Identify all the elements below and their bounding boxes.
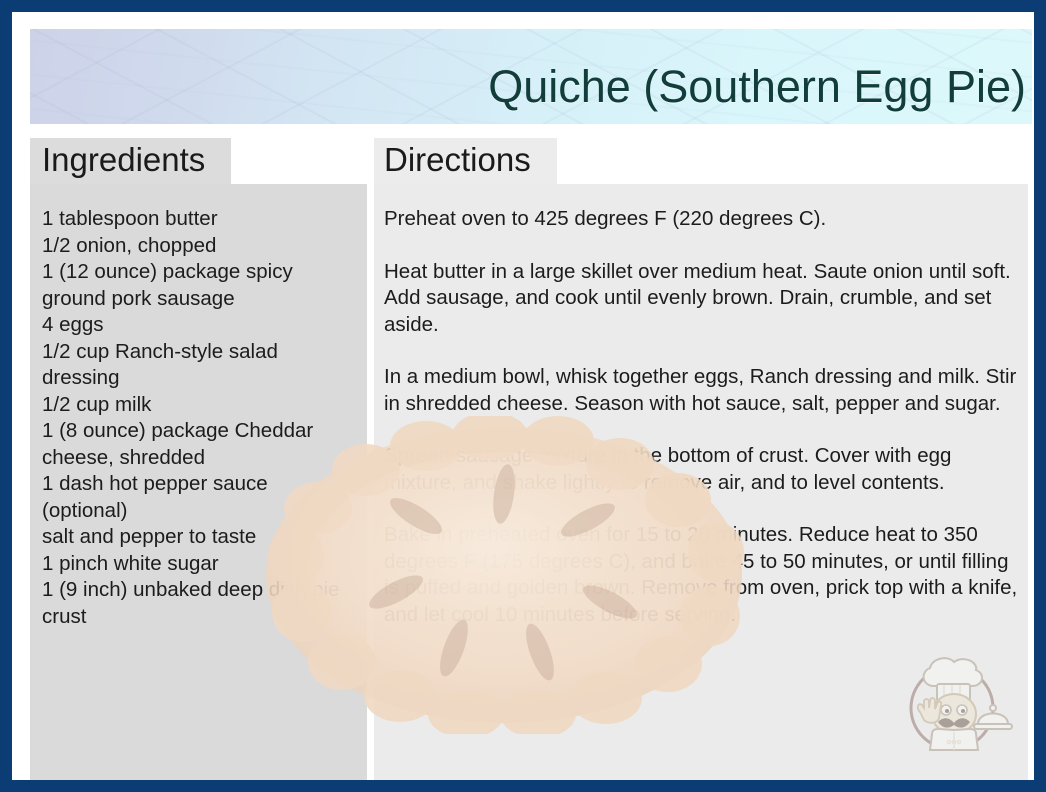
direction-step: In a medium bowl, whisk together eggs, R… xyxy=(384,364,1022,417)
ingredient-item: 1 pinch white sugar xyxy=(42,551,355,578)
ingredient-item: 1 (12 ounce) package spicy ground pork s… xyxy=(42,259,355,312)
direction-step: Preheat oven to 425 degrees F (220 degre… xyxy=(384,206,1022,233)
ingredient-item: 1 (9 inch) unbaked deep dish pie crust xyxy=(42,577,355,630)
direction-step: Spread sausage mixture in the bottom of … xyxy=(384,443,1022,496)
direction-step: Bake in preheated oven for 15 to 20 minu… xyxy=(384,522,1022,628)
direction-step: Heat butter in a large skillet over medi… xyxy=(384,259,1022,339)
ingredient-item: 1/2 onion, chopped xyxy=(42,233,355,260)
title-banner: Quiche (Southern Egg Pie) xyxy=(30,29,1032,124)
ingredient-item: 1/2 cup Ranch-style salad dressing xyxy=(42,339,355,392)
ingredient-item: 1/2 cup milk xyxy=(42,392,355,419)
page-title: Quiche (Southern Egg Pie) xyxy=(488,63,1026,110)
ingredient-item: 1 tablespoon butter xyxy=(42,206,355,233)
ingredients-heading: Ingredients xyxy=(30,138,231,184)
ingredients-section: Ingredients 1 tablespoon butter 1/2 onio… xyxy=(30,138,367,791)
ingredient-item: 1 dash hot pepper sauce (optional) xyxy=(42,471,355,524)
directions-heading: Directions xyxy=(374,138,557,184)
ingredient-item: salt and pepper to taste xyxy=(42,524,355,551)
ingredient-item: 4 eggs xyxy=(42,312,355,339)
recipe-slide: Quiche (Southern Egg Pie) xyxy=(0,0,1046,792)
ingredient-item: 1 (8 ounce) package Cheddar cheese, shre… xyxy=(42,418,355,471)
chef-mascot-logo xyxy=(892,638,1018,764)
ingredients-list: 1 tablespoon butter 1/2 onion, chopped 1… xyxy=(30,184,367,791)
